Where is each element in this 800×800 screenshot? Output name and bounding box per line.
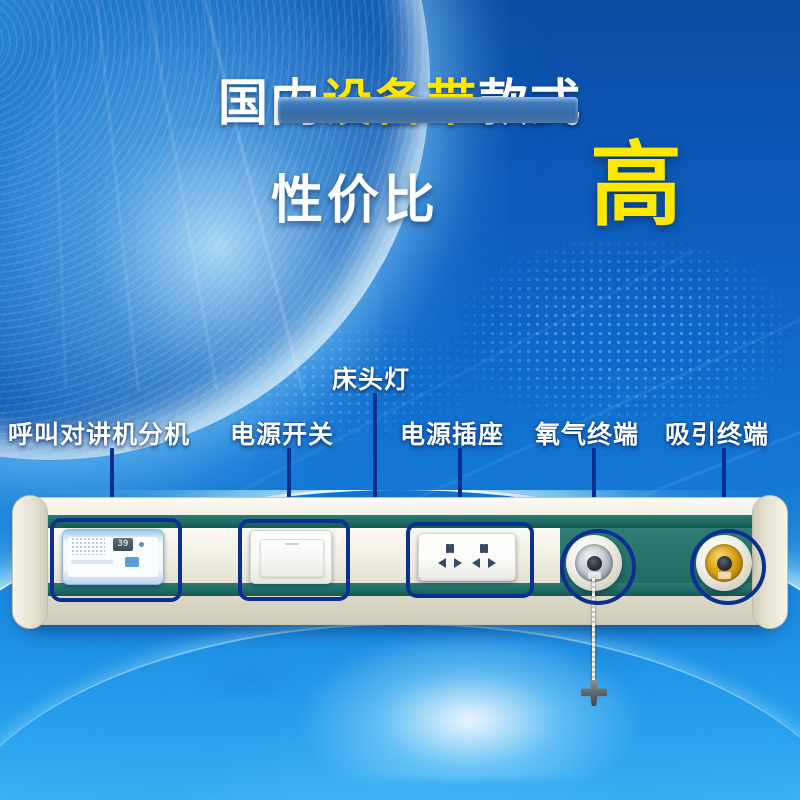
highlight-box-power-socket — [406, 522, 534, 598]
callout-label-oxygen: 氧气终端 — [535, 415, 639, 451]
bed-lamp-strip[interactable] — [278, 97, 578, 123]
highlight-box-intercom — [50, 518, 182, 602]
callout-label-intercom: 呼叫对讲机分机 — [8, 415, 190, 451]
callout-label-bed-lamp: 床头灯 — [332, 360, 410, 396]
poster-canvas: 国内设备带款式 性价比 高 呼叫对讲机分机 电源开关 床头灯 电源插座 氧气终端… — [0, 0, 800, 800]
headline-line-2-row: 性价比 高 — [0, 154, 800, 234]
highlight-circle-oxygen — [560, 529, 636, 605]
callout-label-power-switch: 电源开关 — [230, 415, 334, 451]
callout-label-suction: 吸引终端 — [665, 415, 769, 451]
panel-end-cap-left — [12, 495, 48, 629]
pull-cord-handle-icon[interactable] — [581, 680, 607, 706]
callout-label-power-socket: 电源插座 — [400, 415, 504, 451]
horizon-arc-secondary — [0, 623, 800, 800]
highlight-circle-suction — [690, 529, 766, 605]
horizon-glow — [300, 630, 640, 780]
headline-emphasis: 高 — [590, 140, 682, 232]
headline-line-2: 性价比 — [271, 158, 439, 233]
highlight-box-power-switch — [238, 519, 350, 601]
halftone-dot-map-right — [380, 230, 800, 430]
